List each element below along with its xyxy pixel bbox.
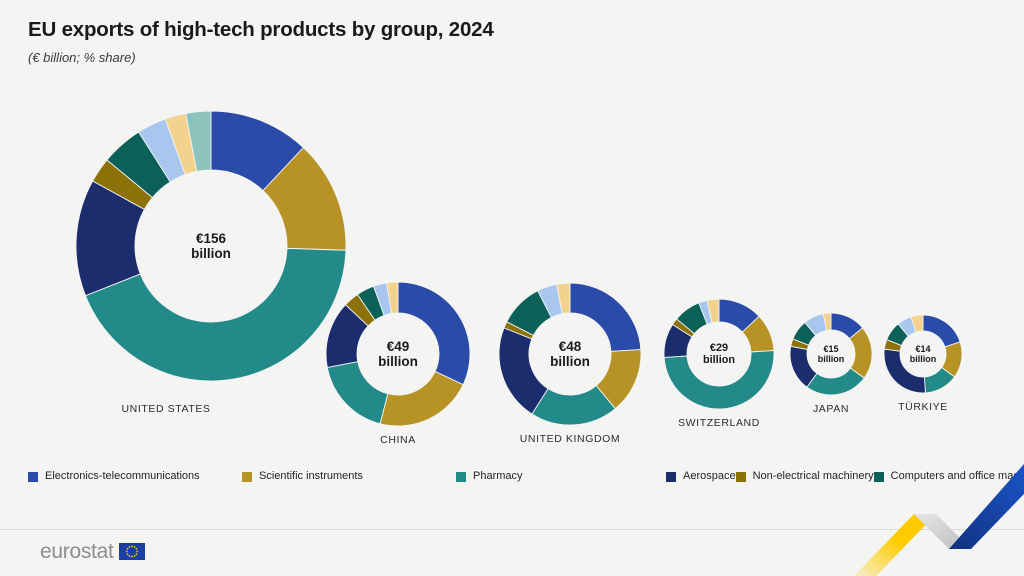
donut-united-states: €156billionUNITED STATES <box>76 111 256 415</box>
donut-slice <box>398 282 470 385</box>
donut-slice <box>327 362 388 424</box>
page-title: EU exports of high-tech products by grou… <box>28 18 928 43</box>
donut-china: €49billionCHINA <box>308 282 488 446</box>
legend-swatch-icon <box>666 472 676 482</box>
donut-ring: €49billion <box>326 282 470 426</box>
donut-country-label: CHINA <box>308 434 488 446</box>
legend-swatch-icon <box>456 472 466 482</box>
donut-slice <box>380 371 463 426</box>
legend-swatch-icon <box>28 472 38 482</box>
donut-ring: €14billion <box>884 315 962 393</box>
donut-slice <box>499 328 548 414</box>
eurostat-wordmark: eurostat <box>40 541 113 562</box>
chart-page: EU exports of high-tech products by grou… <box>0 0 1024 576</box>
legend-item[interactable]: Scientific instruments <box>242 471 456 482</box>
legend-item[interactable]: Electronics-telecommunications <box>28 471 242 482</box>
donut-country-label: SWITZERLAND <box>629 417 809 429</box>
legend-label: Aerospace <box>683 471 736 482</box>
eu-stars-icon <box>119 543 145 560</box>
legend-label: Pharmacy <box>473 471 523 482</box>
legend-item[interactable]: Computers and office machines <box>874 471 1024 482</box>
donut-slice <box>923 315 960 347</box>
donut-slice <box>884 349 925 393</box>
donut-chart-area: €156billionUNITED STATES€49billionCHINA€… <box>0 96 1024 436</box>
legend-label: Computers and office machines <box>891 471 1024 482</box>
legend-item[interactable]: Aerospace <box>666 471 736 482</box>
chart-subtitle: (€ billion; % share) <box>28 50 928 66</box>
eu-flag-icon <box>119 543 145 560</box>
legend-label: Non-electrical machinery <box>753 471 874 482</box>
legend-swatch-icon <box>242 472 252 482</box>
legend-label: Scientific instruments <box>259 471 363 482</box>
donut-ring: €156billion <box>76 111 346 381</box>
donut-country-label: TÜRKIYE <box>833 401 1013 413</box>
legend-item[interactable]: Pharmacy <box>456 471 666 482</box>
footer-divider <box>0 529 1024 530</box>
legend-swatch-icon <box>874 472 884 482</box>
donut-ring: €48billion <box>499 283 641 425</box>
legend-swatch-icon <box>736 472 746 482</box>
chart-legend: Electronics-telecommunicationsScientific… <box>28 468 668 485</box>
chart-header: EU exports of high-tech products by grou… <box>28 18 928 65</box>
eurostat-logo: eurostat <box>40 541 145 562</box>
donut-country-label: UNITED KINGDOM <box>480 433 660 445</box>
legend-item[interactable]: Non-electrical machinery <box>736 471 874 482</box>
legend-label: Electronics-telecommunications <box>45 471 200 482</box>
donut-country-label: UNITED STATES <box>76 403 256 415</box>
donut-t-rkiye: €14billionTÜRKIYE <box>833 315 1013 413</box>
